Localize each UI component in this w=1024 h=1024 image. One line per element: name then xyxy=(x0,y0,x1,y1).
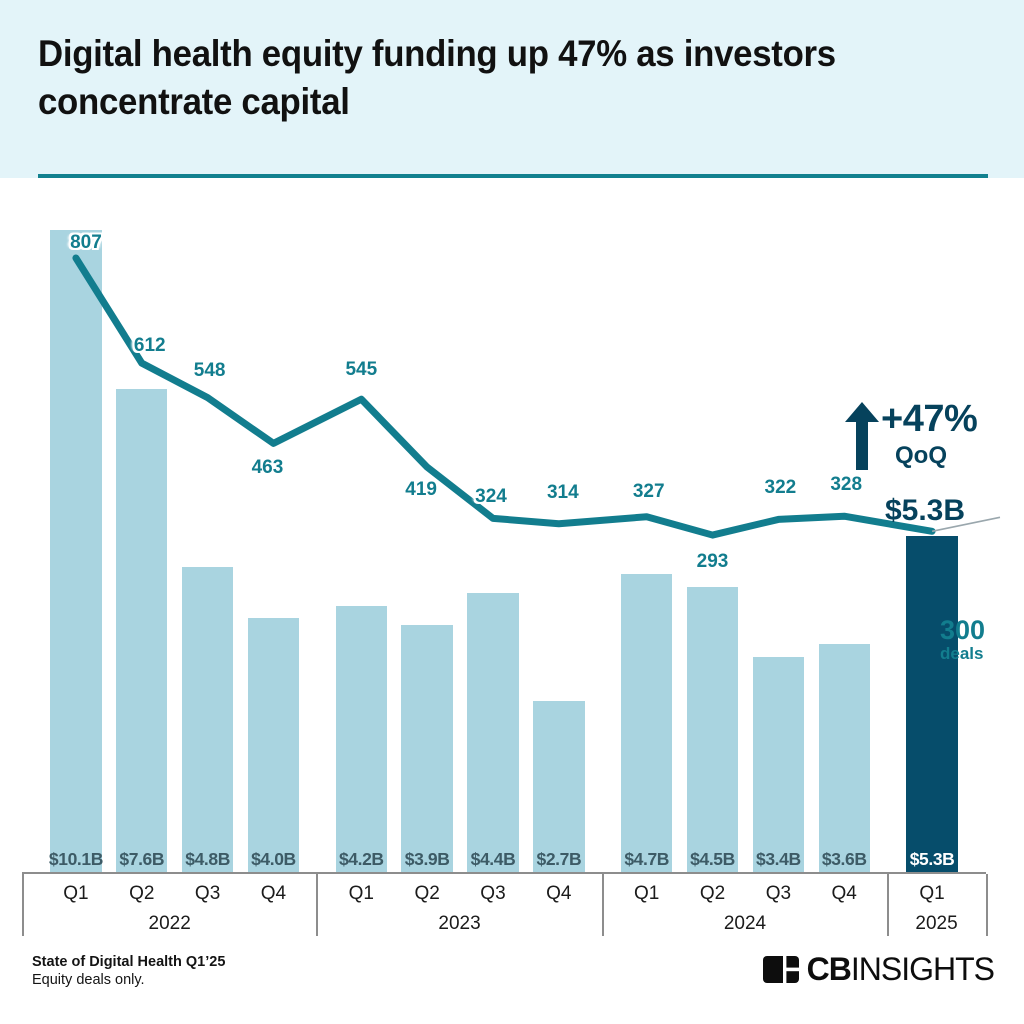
x-axis-quarter-label: Q3 xyxy=(460,883,526,905)
x-axis-tick xyxy=(22,874,24,936)
bar-value-label: $4.7B xyxy=(614,849,680,870)
bar-2022-Q2[interactable] xyxy=(116,389,167,873)
bar-2023-Q2[interactable] xyxy=(401,625,452,873)
deals-point-label: 612 xyxy=(117,335,183,357)
deals-point-label: 293 xyxy=(680,551,746,573)
bar-2024-Q3[interactable] xyxy=(753,657,804,873)
bar-2024-Q4[interactable] xyxy=(819,644,870,873)
bar-value-label: $3.6B xyxy=(811,849,877,870)
x-axis-tick xyxy=(316,874,318,936)
x-axis-tick xyxy=(986,874,988,936)
x-axis-line xyxy=(22,872,986,874)
bar-value-label: $7.6B xyxy=(109,849,175,870)
deals-point-label: 324 xyxy=(458,486,524,508)
x-axis-tick xyxy=(887,874,889,936)
deals-end-callout: 300 deals xyxy=(940,616,1024,664)
up-arrow-icon xyxy=(845,402,879,470)
x-axis-quarter-label: Q1 xyxy=(614,883,680,905)
x-axis-tick xyxy=(602,874,604,936)
deals-point-label: 545 xyxy=(328,359,394,381)
x-axis-quarter-label: Q4 xyxy=(241,883,307,905)
x-axis-quarter-label: Q4 xyxy=(526,883,592,905)
x-axis-quarter-label: Q2 xyxy=(680,883,746,905)
cbinsights-logo-icon xyxy=(763,956,799,983)
chart-area: $10.1B$7.6B$4.8B$4.0B$4.2B$3.9B$4.4B$2.7… xyxy=(0,178,1024,938)
x-axis-year-label: 2023 xyxy=(316,913,602,935)
cbinsights-logo: CBINSIGHTS xyxy=(763,950,994,988)
x-axis-quarter-label: Q4 xyxy=(811,883,877,905)
bar-2023-Q4[interactable] xyxy=(533,701,584,873)
qoq-period: QoQ xyxy=(895,442,947,470)
bar-value-label: $3.9B xyxy=(394,849,460,870)
x-axis-quarter-label: Q1 xyxy=(899,883,965,905)
bar-value-label: $3.4B xyxy=(745,849,811,870)
deals-point-label: 327 xyxy=(616,481,682,503)
source-title: State of Digital Health Q1’25 xyxy=(32,954,225,970)
bar-value-label: $10.1B xyxy=(43,849,109,870)
bar-2023-Q1[interactable] xyxy=(336,606,387,873)
bar-2022-Q3[interactable] xyxy=(182,567,233,873)
bar-2022-Q1[interactable] xyxy=(50,230,101,873)
bar-2024-Q2[interactable] xyxy=(687,587,738,873)
page-title: Digital health equity funding up 47% as … xyxy=(38,30,884,126)
bar-value-label: $4.2B xyxy=(328,849,394,870)
deals-point-label: 807 xyxy=(53,232,119,254)
footer: State of Digital Health Q1’25 Equity dea… xyxy=(0,938,1024,1024)
plot-region: $10.1B$7.6B$4.8B$4.0B$4.2B$3.9B$4.4B$2.7… xyxy=(0,178,1024,938)
logo-insights: INSIGHTS xyxy=(851,951,994,987)
deals-end-unit: deals xyxy=(940,644,1024,664)
source-note: Equity deals only. xyxy=(32,972,145,988)
bar-2022-Q4[interactable] xyxy=(248,618,299,873)
logo-cb: CB xyxy=(807,951,851,987)
deals-point-label: 419 xyxy=(388,479,454,501)
x-axis-year-label: 2025 xyxy=(887,913,986,935)
x-axis-quarter-label: Q1 xyxy=(43,883,109,905)
x-axis-quarter-label: Q2 xyxy=(109,883,175,905)
deals-end-value: 300 xyxy=(940,616,1024,644)
qoq-percent: +47% xyxy=(881,398,977,441)
x-axis-year-label: 2024 xyxy=(602,913,888,935)
deals-point-label: 548 xyxy=(177,360,243,382)
x-axis-quarter-label: Q3 xyxy=(175,883,241,905)
bar-2025-Q1[interactable] xyxy=(906,536,957,873)
x-axis-quarter-label: Q2 xyxy=(394,883,460,905)
bar-2023-Q3[interactable] xyxy=(467,593,518,873)
bar-value-label: $5.3B xyxy=(899,849,965,870)
qoq-callout: +47% QoQ xyxy=(845,398,1005,478)
header-banner: Digital health equity funding up 47% as … xyxy=(0,0,1024,178)
chart-canvas: Digital health equity funding up 47% as … xyxy=(0,0,1024,1024)
x-axis-year-label: 2022 xyxy=(22,913,317,935)
highlight-bar-value: $5.3B xyxy=(855,494,995,528)
cbinsights-wordmark: CBINSIGHTS xyxy=(807,953,994,985)
deals-point-label: 463 xyxy=(235,457,301,479)
bar-value-label: $4.8B xyxy=(175,849,241,870)
deals-point-label: 322 xyxy=(747,477,813,499)
deals-point-label: 314 xyxy=(530,482,596,504)
bar-value-label: $4.5B xyxy=(680,849,746,870)
bar-value-label: $4.0B xyxy=(241,849,307,870)
bar-2024-Q1[interactable] xyxy=(621,574,672,873)
bar-value-label: $2.7B xyxy=(526,849,592,870)
bar-value-label: $4.4B xyxy=(460,849,526,870)
x-axis-quarter-label: Q3 xyxy=(745,883,811,905)
x-axis-quarter-label: Q1 xyxy=(328,883,394,905)
